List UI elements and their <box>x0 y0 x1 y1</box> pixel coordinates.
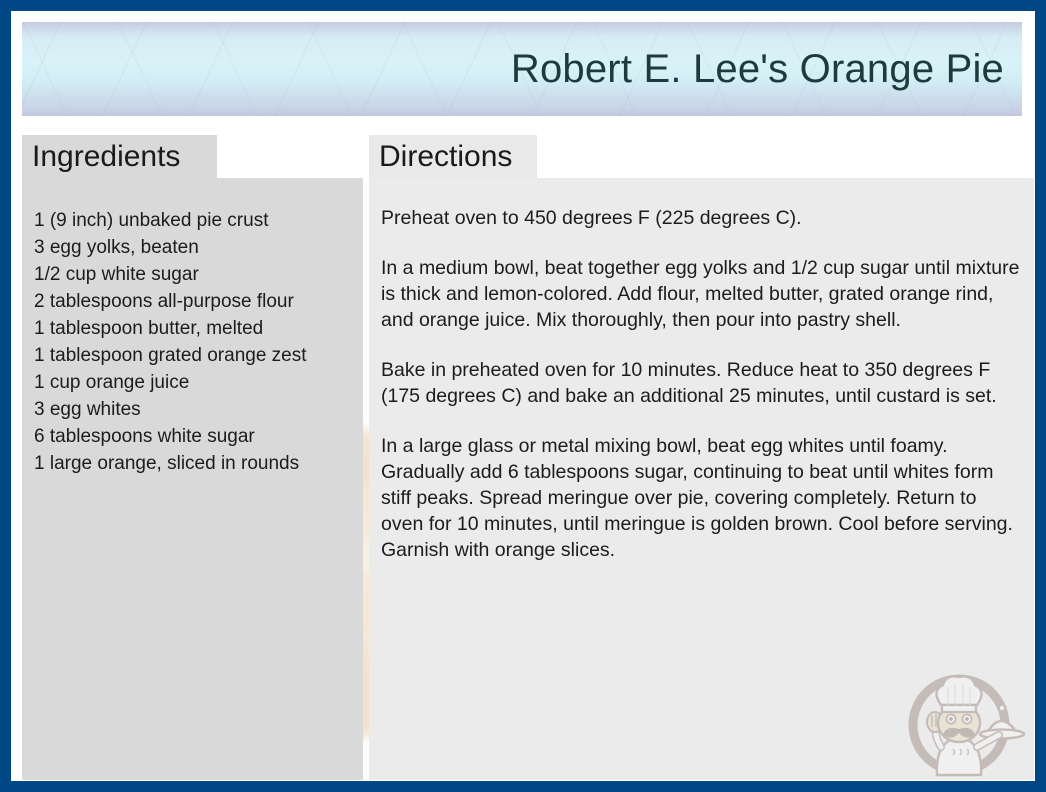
page-title: Robert E. Lee's Orange Pie <box>511 47 1004 91</box>
ingredients-panel: 1 (9 inch) unbaked pie crust 3 egg yolks… <box>22 178 363 780</box>
list-item: 1 (9 inch) unbaked pie crust <box>34 207 355 234</box>
direction-step: In a large glass or metal mixing bowl, b… <box>381 433 1020 563</box>
list-item: 1 tablespoon butter, melted <box>34 315 355 342</box>
list-item: 1 large orange, sliced in rounds <box>34 450 355 477</box>
directions-section-header: Directions <box>369 135 537 178</box>
list-item: 3 egg yolks, beaten <box>34 234 355 261</box>
list-item: 1 tablespoon grated orange zest <box>34 342 355 369</box>
list-item: 1 cup orange juice <box>34 369 355 396</box>
directions-text: Preheat oven to 450 degrees F (225 degre… <box>369 178 1034 563</box>
direction-step: In a medium bowl, beat together egg yolk… <box>381 255 1020 333</box>
ingredients-section-header: Ingredients <box>22 135 217 178</box>
title-banner: Robert E. Lee's Orange Pie <box>22 22 1022 116</box>
recipe-slide: Robert E. Lee's Orange Pie <box>0 0 1046 792</box>
directions-panel: Preheat oven to 450 degrees F (225 degre… <box>369 178 1034 780</box>
direction-step: Preheat oven to 450 degrees F (225 degre… <box>381 205 1020 231</box>
list-item: 6 tablespoons white sugar <box>34 423 355 450</box>
slide-page: Robert E. Lee's Orange Pie <box>11 11 1035 781</box>
list-item: 3 egg whites <box>34 396 355 423</box>
list-item: 2 tablespoons all-purpose flour <box>34 288 355 315</box>
direction-step: Bake in preheated oven for 10 minutes. R… <box>381 357 1020 409</box>
list-item: 1/2 cup white sugar <box>34 261 355 288</box>
ingredients-list: 1 (9 inch) unbaked pie crust 3 egg yolks… <box>22 178 363 477</box>
